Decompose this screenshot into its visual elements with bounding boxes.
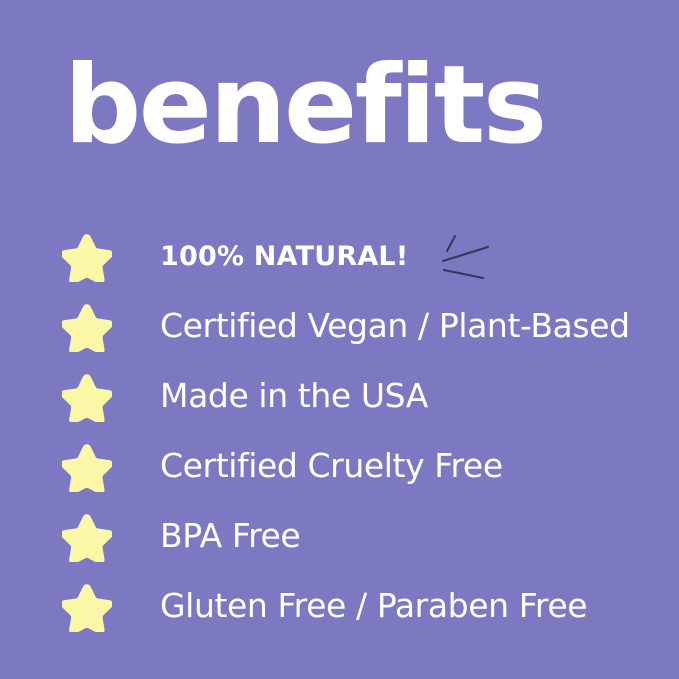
star-icon bbox=[62, 582, 112, 632]
emphasis-lines-icon bbox=[440, 233, 492, 281]
list-item: Made in the USA bbox=[0, 362, 679, 432]
list-item-label: BPA Free bbox=[160, 519, 300, 554]
star-icon bbox=[62, 512, 112, 562]
list-item-label: Certified Vegan / Plant-Based bbox=[160, 309, 630, 344]
list-item-label: 100% NATURAL! bbox=[160, 243, 408, 271]
star-icon bbox=[62, 442, 112, 492]
list-item: Gluten Free / Paraben Free bbox=[0, 572, 679, 642]
page-title: benefits bbox=[64, 52, 545, 160]
list-item: 100% NATURAL! bbox=[0, 222, 679, 292]
list-item-label: Gluten Free / Paraben Free bbox=[160, 589, 587, 624]
list-item-label: Certified Cruelty Free bbox=[160, 449, 503, 484]
list-item: Certified Cruelty Free bbox=[0, 432, 679, 502]
star-icon bbox=[62, 302, 112, 352]
benefits-card: benefits 100% NATURAL! Certified Vegan /… bbox=[0, 0, 679, 679]
list-item: BPA Free bbox=[0, 502, 679, 572]
star-icon bbox=[62, 232, 112, 282]
list-item-label: Made in the USA bbox=[160, 379, 428, 414]
list-item: Certified Vegan / Plant-Based bbox=[0, 292, 679, 362]
star-icon bbox=[62, 372, 112, 422]
benefits-list: 100% NATURAL! Certified Vegan / Plant-Ba… bbox=[0, 222, 679, 642]
